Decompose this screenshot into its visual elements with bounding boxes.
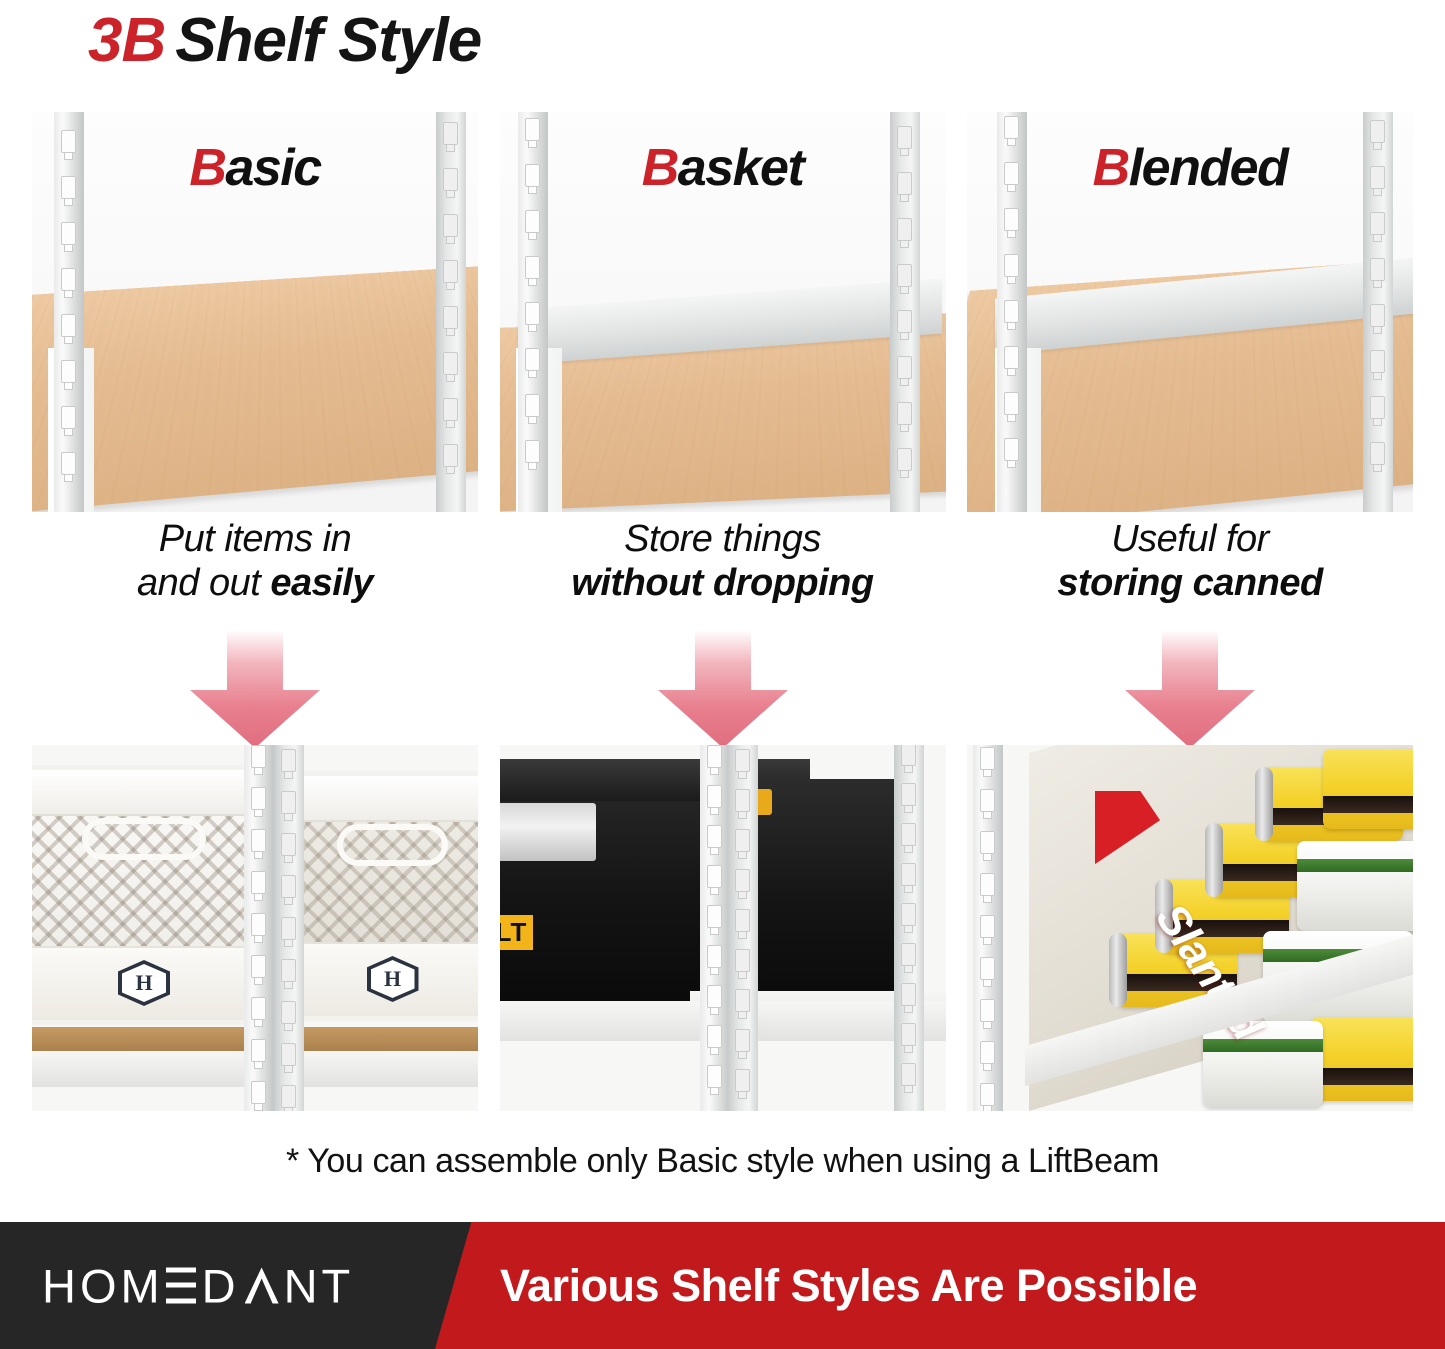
down-arrow-icon bbox=[1124, 630, 1256, 748]
shelf-style-card-blended: Blended bbox=[967, 112, 1413, 512]
title-main: Shelf Style bbox=[175, 6, 481, 75]
upright-post-center bbox=[244, 745, 274, 1111]
usage-photo-blended: Slanted bbox=[967, 745, 1413, 1111]
caption-basket: Store things without dropping bbox=[500, 518, 946, 605]
can-lid bbox=[1109, 933, 1127, 1007]
down-arrow-icon bbox=[657, 630, 789, 748]
toolbox-brand-logo: LT bbox=[500, 915, 534, 950]
arrow-cell-blended bbox=[967, 630, 1413, 748]
card-label-basic: Basic bbox=[32, 142, 478, 194]
down-arrow-icon bbox=[189, 630, 321, 748]
upright-post-center-back bbox=[274, 745, 304, 1111]
brand-part-3: NT bbox=[284, 1258, 355, 1313]
brand-part-1: HOM bbox=[42, 1258, 164, 1313]
footer-tagline: Various Shelf Styles Are Possible bbox=[500, 1260, 1197, 1312]
caption-blended: Useful for storing canned bbox=[967, 518, 1413, 605]
hexagon-h-logo-icon: H bbox=[367, 956, 419, 1002]
card-label-rest: lended bbox=[1129, 139, 1288, 197]
upright-post-right bbox=[894, 745, 924, 1111]
caption-line-2-plain: and out bbox=[137, 562, 270, 604]
canned-good bbox=[1323, 749, 1413, 829]
usage-photos-row: H H bbox=[32, 745, 1413, 1111]
shelf-style-card-basic: Basic bbox=[32, 112, 478, 512]
milk-crate: H bbox=[32, 765, 268, 1025]
footnote: * You can assemble only Basic style when… bbox=[0, 1142, 1445, 1181]
brand-e-glyph-icon bbox=[166, 1268, 196, 1304]
footer-bar: HOM D NT Various Shelf Styles Are Possib… bbox=[0, 1222, 1445, 1349]
upright-post-center-back bbox=[728, 745, 758, 1111]
can-lid bbox=[1255, 767, 1273, 841]
title-accent: 3B bbox=[88, 6, 165, 75]
metal-tray bbox=[500, 803, 596, 861]
caption-line-2-bold: without dropping bbox=[571, 562, 873, 604]
hexagon-h-logo-icon: H bbox=[118, 960, 170, 1006]
brand-logo: HOM D NT bbox=[42, 1258, 354, 1313]
card-label-basket: Basket bbox=[500, 142, 946, 194]
card-label-rest: asic bbox=[225, 139, 320, 197]
caption-line-1: Put items in bbox=[32, 518, 478, 562]
page-title: 3BShelf Style bbox=[88, 2, 481, 80]
brand-a-triangle-icon bbox=[245, 1268, 279, 1304]
usage-photo-basket: LT bbox=[500, 745, 946, 1111]
wooden-shelf-board bbox=[32, 264, 478, 512]
canned-good bbox=[1203, 1021, 1323, 1107]
brand-part-2: D bbox=[202, 1258, 240, 1313]
usage-photo-basic: H H bbox=[32, 745, 478, 1111]
crate-badge-letter: H bbox=[135, 970, 152, 996]
milk-crate: H bbox=[280, 771, 478, 1021]
crate-badge-letter: H bbox=[384, 966, 401, 992]
caption-line-2-bold: storing canned bbox=[1057, 562, 1322, 604]
caption-basic: Put items in and out easily bbox=[32, 518, 478, 605]
card-label-lead: B bbox=[189, 139, 225, 197]
arrow-cell-basic bbox=[32, 630, 478, 748]
card-label-rest: asket bbox=[678, 139, 804, 197]
caption-line-1: Store things bbox=[500, 518, 946, 562]
captions-row: Put items in and out easily Store things… bbox=[32, 518, 1413, 605]
caption-line-1: Useful for bbox=[967, 518, 1413, 562]
arrows-row bbox=[32, 630, 1413, 748]
can-lid bbox=[1155, 879, 1173, 953]
card-label-lead: B bbox=[642, 139, 678, 197]
card-label-blended: Blended bbox=[967, 142, 1413, 194]
upright-post-left bbox=[973, 745, 1003, 1111]
arrow-cell-basket bbox=[500, 630, 946, 748]
card-label-lead: B bbox=[1093, 139, 1129, 197]
caption-line-2-bold: easily bbox=[270, 562, 373, 604]
can-lid bbox=[1205, 823, 1223, 897]
canned-good bbox=[1311, 1017, 1413, 1101]
upright-post-center bbox=[700, 745, 730, 1111]
canned-good bbox=[1297, 841, 1413, 931]
shelf-style-cards: Basic Basket bbox=[32, 112, 1413, 512]
shelf-style-card-basket: Basket bbox=[500, 112, 946, 512]
